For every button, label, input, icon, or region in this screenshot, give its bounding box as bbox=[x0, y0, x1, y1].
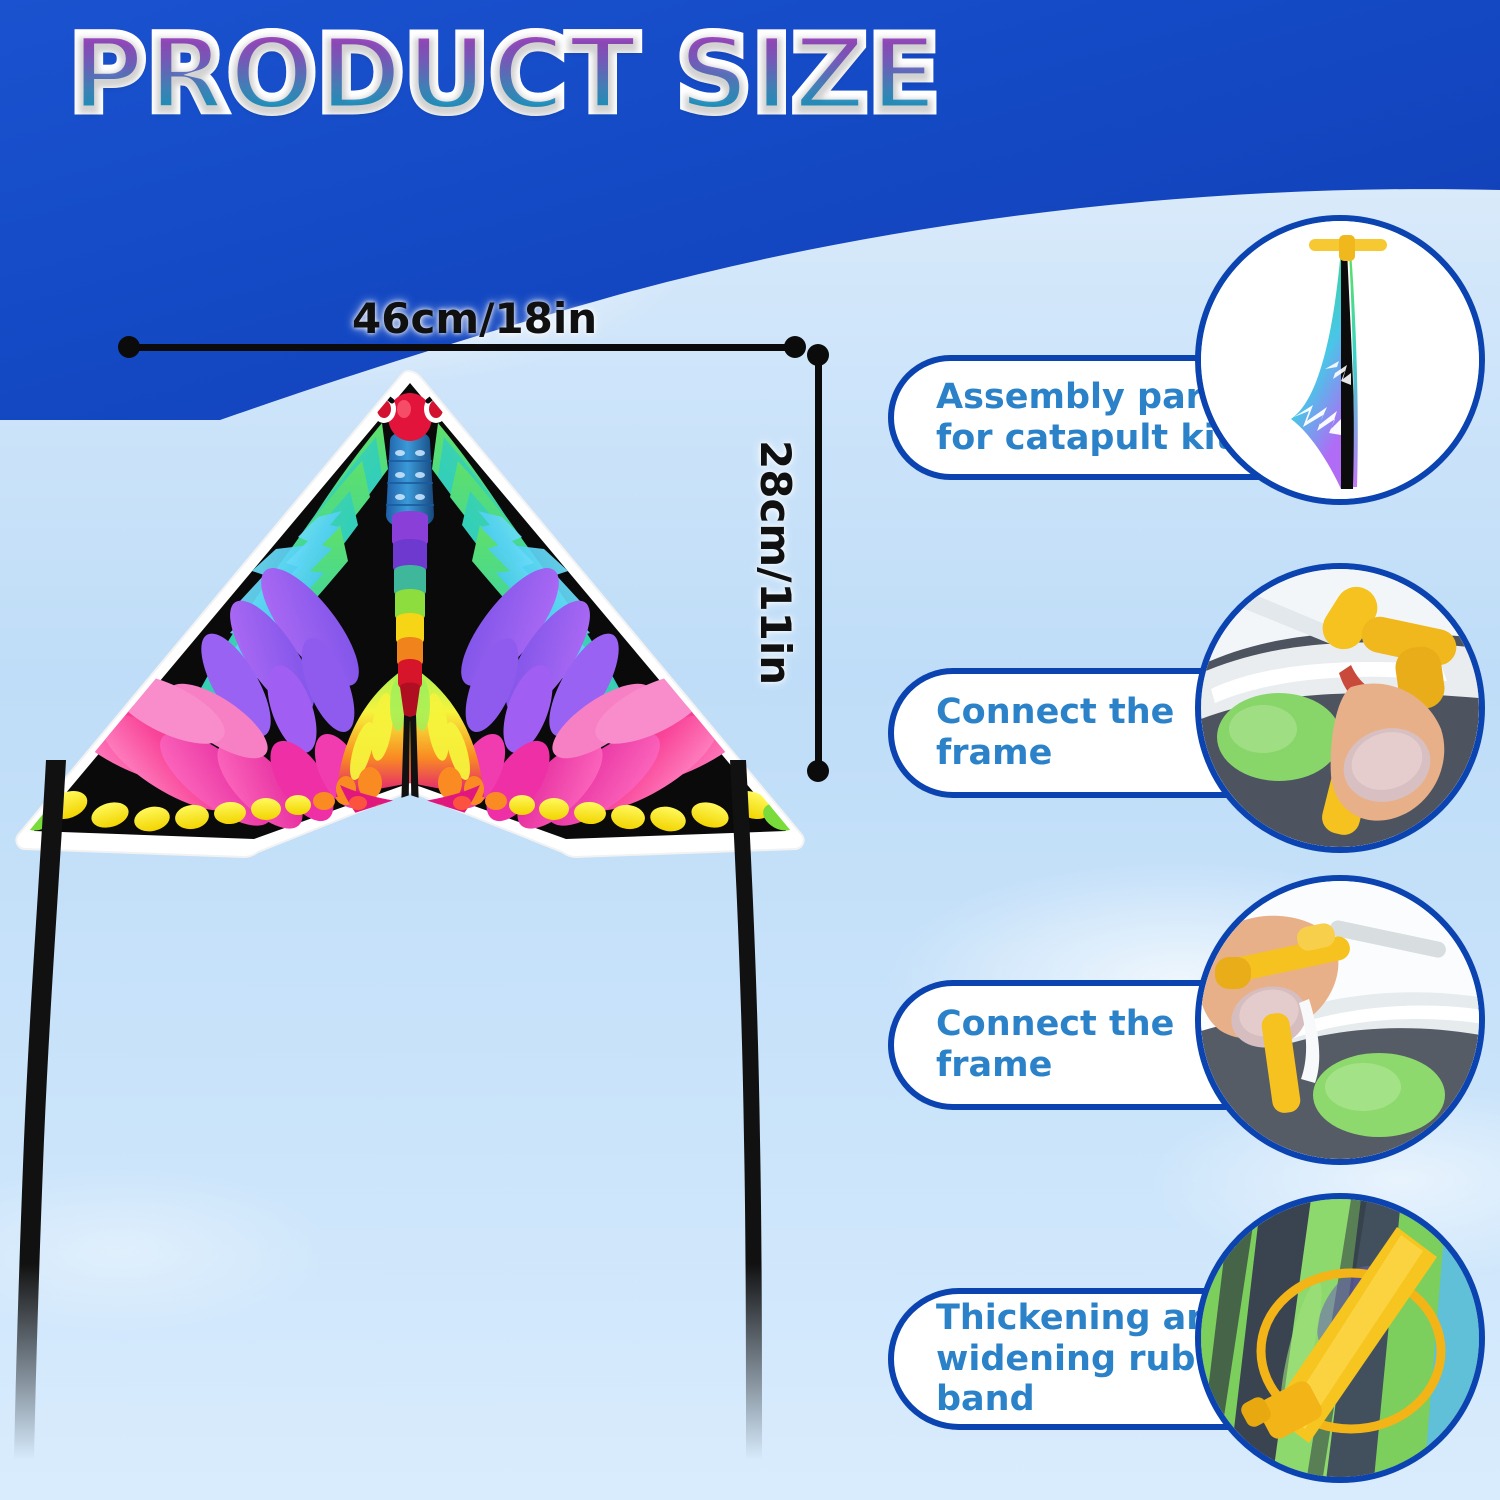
page-title-container: PRODUCT SIZE bbox=[0, 14, 1010, 134]
feature-3-photo[interactable] bbox=[1195, 875, 1485, 1165]
dimension-width-dot-right bbox=[784, 336, 806, 358]
feature-2-photo[interactable] bbox=[1195, 563, 1485, 853]
dimension-width-dot-left bbox=[118, 336, 140, 358]
dimension-width-label: 46cm/18in bbox=[352, 294, 597, 343]
feature-2-label: Connect the frame bbox=[894, 692, 1204, 773]
feature-callout-1[interactable]: Assembly parts for catapult kites bbox=[888, 355, 1500, 480]
dimension-height-dot-bottom bbox=[807, 760, 829, 782]
kite-tail-left bbox=[14, 760, 66, 1460]
infographic-canvas: PRODUCT SIZE bbox=[0, 0, 1500, 1500]
kite-tails bbox=[0, 760, 820, 1460]
feature-callout-4[interactable]: Thickening and widening rubber band bbox=[888, 1288, 1500, 1430]
feature-3-label: Connect the frame bbox=[894, 1004, 1204, 1085]
feature-1-photo[interactable] bbox=[1195, 215, 1485, 505]
folded-kite-with-catapult-photo bbox=[1201, 221, 1479, 499]
kite-tail-right bbox=[730, 760, 762, 1460]
feature-callout-2[interactable]: Connect the frame bbox=[888, 668, 1500, 798]
page-title: PRODUCT SIZE bbox=[69, 13, 940, 135]
hand-inserting-rod-photo bbox=[1201, 881, 1479, 1159]
feature-4-photo[interactable] bbox=[1195, 1193, 1485, 1483]
feature-callout-3[interactable]: Connect the frame bbox=[888, 980, 1500, 1110]
dimension-height-label: 28cm/11in bbox=[751, 440, 800, 685]
dimension-height-dot-top bbox=[807, 344, 829, 366]
hand-connecting-frame-photo bbox=[1201, 569, 1479, 847]
rubber-band-on-fabric-photo bbox=[1201, 1199, 1479, 1477]
